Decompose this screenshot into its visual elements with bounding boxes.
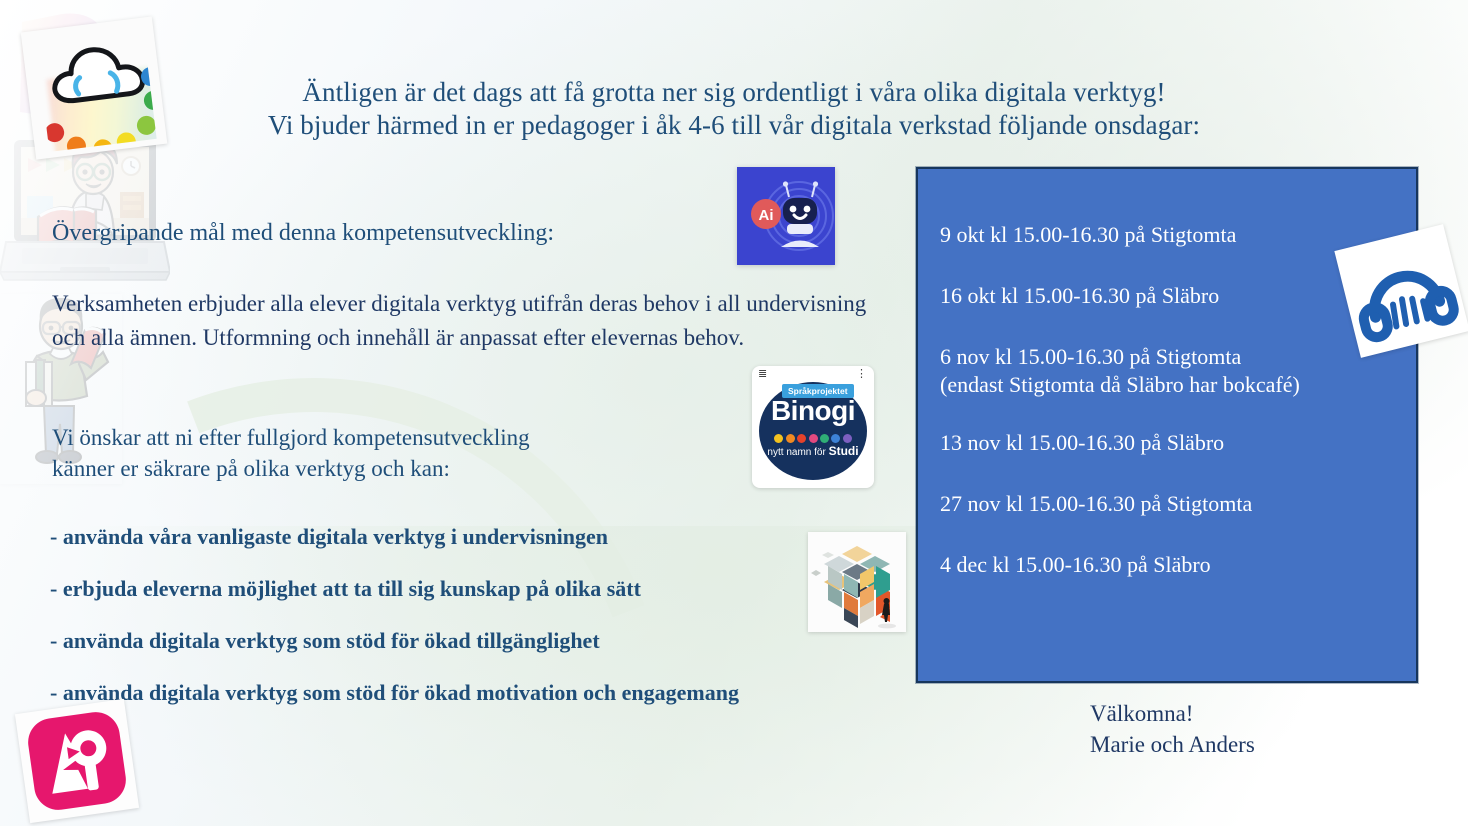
isometric-cube-icon <box>808 532 906 632</box>
date-item-main: 6 nov kl 15.00-16.30 på Stigtomta <box>940 344 1241 369</box>
wish-line-2: känner er säkrare på olika verktyg och k… <box>52 453 752 484</box>
signature-names: Marie och Anders <box>1090 729 1255 760</box>
ai-robot-glyph: Ai <box>737 167 835 265</box>
headline-line-1: Äntligen är det dags att få grotta ner s… <box>302 77 1165 107</box>
polyglutt-icon <box>15 699 139 823</box>
date-item: 9 okt kl 15.00-16.30 på Stigtomta <box>940 221 1416 249</box>
date-item: 13 nov kl 15.00-16.30 på Släbro <box>940 429 1416 457</box>
polyglutt-glyph <box>15 699 139 823</box>
signature-block: Välkomna! Marie och Anders <box>1090 698 1255 760</box>
hamburger-icon: ≣ <box>758 370 767 379</box>
wish-paragraph: Vi önskar att ni efter fullgjord kompete… <box>52 422 752 484</box>
binogi-logo: ≣ ⋮ Språkprojektet Binogi nytt namn för … <box>752 366 874 488</box>
bullet-item: - erbjuda eleverna möjlighet att ta till… <box>50 576 940 602</box>
goals-heading: Övergripande mål med denna kompetensutve… <box>52 218 752 248</box>
bullet-item: - använda våra vanligaste digitala verkt… <box>50 524 940 550</box>
date-item: 4 dec kl 15.00-16.30 på Släbro <box>940 551 1416 579</box>
bullet-item: - använda digitala verktyg som stöd för … <box>50 680 940 706</box>
slide-headline: Äntligen är det dags att få grotta ner s… <box>0 76 1468 142</box>
ai-robot-icon: Ai <box>737 167 835 265</box>
headline-line-2: Vi bjuder härmed in er pedagoger i åk 4-… <box>0 109 1468 142</box>
binogi-tagline-prefix: nytt namn för <box>767 447 828 458</box>
slide-canvas: Äntligen är det dags att få grotta ner s… <box>0 0 1468 826</box>
kebab-menu-icon: ⋮ <box>856 370 867 379</box>
dates-box: 9 okt kl 15.00-16.30 på Stigtomta 16 okt… <box>916 167 1418 683</box>
skolon-cloud-icon <box>21 16 168 159</box>
cube-glyph <box>808 532 906 632</box>
binogi-tagline-brand: Studi <box>829 444 859 458</box>
dates-list: 9 okt kl 15.00-16.30 på Stigtomta 16 okt… <box>918 169 1416 579</box>
date-item: 27 nov kl 15.00-16.30 på Stigtomta <box>940 490 1416 518</box>
wish-line-1: Vi önskar att ni efter fullgjord kompete… <box>52 422 752 453</box>
binogi-wordmark: Binogi <box>752 395 874 427</box>
binogi-tagline: nytt namn för Studi <box>752 444 874 458</box>
date-item: 6 nov kl 15.00-16.30 på Stigtomta (endas… <box>940 343 1416 399</box>
skolon-icon-inner <box>36 30 157 152</box>
date-item-note: (endast Stigtomta då Släbro har bokcafé) <box>940 371 1416 399</box>
cloud-icon <box>43 35 154 109</box>
goals-paragraph: Verksamheten erbjuder alla elever digita… <box>52 287 882 355</box>
signature-greeting: Välkomna! <box>1090 698 1255 729</box>
bullet-item: - använda digitala verktyg som stöd för … <box>50 628 940 654</box>
ai-badge-label: Ai <box>759 207 774 224</box>
goals-bullet-list: - använda våra vanligaste digitala verkt… <box>50 524 940 706</box>
